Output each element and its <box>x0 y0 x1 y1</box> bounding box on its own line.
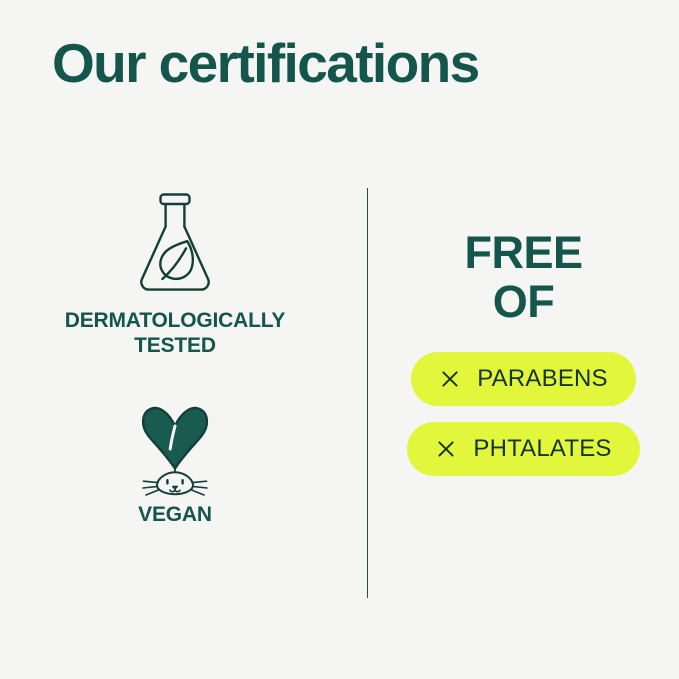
free-of-item-parabens[interactable]: PARABENS <box>411 352 636 406</box>
certifications-panel: Our certifications <box>0 0 679 679</box>
flask-leaf-icon <box>127 190 223 298</box>
x-icon <box>437 440 455 458</box>
free-of-item-label: PARABENS <box>477 366 608 392</box>
certification-label: VEGAN <box>138 502 212 527</box>
free-of-heading-line1: FREE <box>464 227 582 278</box>
free-of-item-phtalates[interactable]: PHTALATES <box>407 422 639 476</box>
certifications-column: DERMATOLOGICALLY TESTED <box>0 190 350 527</box>
certification-vegan: VEGAN <box>125 396 225 527</box>
certification-label: DERMATOLOGICALLY TESTED <box>25 308 325 358</box>
certification-dermatologically-tested: DERMATOLOGICALLY TESTED <box>25 190 325 358</box>
cruelty-free-bunny-icon <box>125 396 225 496</box>
free-of-list: PARABENS PHTALATES <box>407 352 639 476</box>
free-of-heading-line2: OF <box>464 277 582 326</box>
free-of-heading: FREE OF <box>464 228 582 326</box>
free-of-item-label: PHTALATES <box>473 436 611 462</box>
x-icon <box>441 370 459 388</box>
page-title: Our certifications <box>52 32 479 94</box>
free-of-column: FREE OF PARABENS <box>368 228 679 476</box>
